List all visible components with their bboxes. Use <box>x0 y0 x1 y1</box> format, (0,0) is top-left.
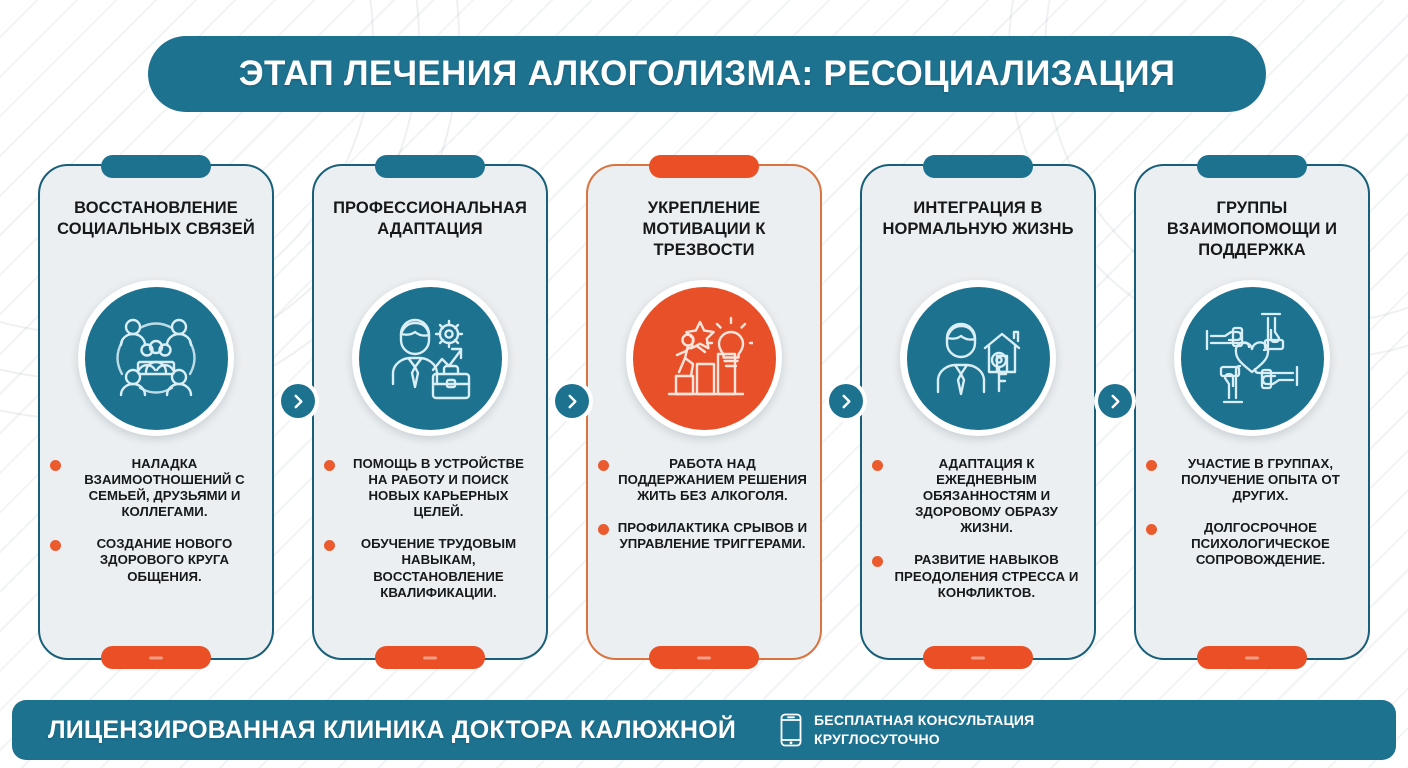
bullet-item: СОЗДАНИЕ НОВОГО ЗДОРОВОГО КРУГА ОБЩЕНИЯ. <box>50 536 260 584</box>
bullet-dot-icon <box>598 460 609 471</box>
card-bottom-tab <box>101 646 211 669</box>
footer-contact-lines: БЕСПЛАТНАЯ КОНСУЛЬТАЦИЯ КРУГЛОСУТОЧНО <box>814 712 1034 748</box>
card-title: ГРУППЫ ВЗАИМОПОМОЩИ И ПОДДЕРЖКА <box>1136 198 1368 264</box>
bullet-item: ОБУЧЕНИЕ ТРУДОВЫМ НАВЫКАМ, ВОССТАНОВЛЕНИ… <box>324 536 534 600</box>
bullet-item: РАБОТА НАД ПОДДЕРЖАНИЕМ РЕШЕНИЯ ЖИТЬ БЕЗ… <box>598 456 808 504</box>
card-bottom-tab <box>923 646 1033 669</box>
card-bottom-tab <box>375 646 485 669</box>
bullet-dot-icon <box>1146 460 1157 471</box>
bullet-dot-icon <box>50 540 61 551</box>
card-icon-wrap <box>78 280 234 436</box>
contact-line-1: БЕСПЛАТНАЯ КОНСУЛЬТАЦИЯ <box>814 712 1034 730</box>
connector-arrow-3 <box>829 384 863 418</box>
bullet-text: АДАПТАЦИЯ К ЕЖЕДНЕВНЫМ ОБЯЗАННОСТЯМ И ЗД… <box>891 456 1082 536</box>
connector-arrow-2 <box>555 384 589 418</box>
page-title: ЭТАП ЛЕЧЕНИЯ АЛКОГОЛИЗМА: РЕСОЦИАЛИЗАЦИЯ <box>239 54 1176 94</box>
climbing-steps-goal-icon <box>655 312 753 404</box>
stage-card-3[interactable]: УКРЕПЛЕНИЕ МОТИВАЦИИ К ТРЕЗВОСТИ <box>586 164 822 660</box>
card-title: ИНТЕГРАЦИЯ В НОРМАЛЬНУЮ ЖИЗНЬ <box>862 198 1094 264</box>
person-house-key-icon <box>929 312 1027 404</box>
bullet-dot-icon <box>872 556 883 567</box>
card-bullets: ПОМОЩЬ В УСТРОЙСТВЕ НА РАБОТУ И ПОИСК НО… <box>314 456 546 601</box>
bullet-text: НАЛАДКА ВЗАИМООТНОШЕНИЙ С СЕМЬЕЙ, ДРУЗЬЯ… <box>69 456 260 520</box>
bullet-dot-icon <box>50 460 61 471</box>
bullet-text: СОЗДАНИЕ НОВОГО ЗДОРОВОГО КРУГА ОБЩЕНИЯ. <box>69 536 260 584</box>
card-top-tab <box>649 155 759 178</box>
bullet-dot-icon <box>598 524 609 535</box>
bullet-text: ПОМОЩЬ В УСТРОЙСТВЕ НА РАБОТУ И ПОИСК НО… <box>343 456 534 520</box>
chevron-right-icon <box>839 394 854 409</box>
card-bottom-tab <box>1197 646 1307 669</box>
chevron-right-icon <box>1108 394 1123 409</box>
cards-row: ВОССТАНОВЛЕНИЕ СОЦИАЛЬНЫХ СВЯЗЕЙ <box>0 150 1408 670</box>
card-icon-circle <box>85 287 228 430</box>
bullet-item: НАЛАДКА ВЗАИМООТНОШЕНИЙ С СЕМЬЕЙ, ДРУЗЬЯ… <box>50 456 260 520</box>
card-top-tab <box>101 155 211 178</box>
chevron-right-icon <box>565 394 580 409</box>
card-title: ВОССТАНОВЛЕНИЕ СОЦИАЛЬНЫХ СВЯЗЕЙ <box>40 198 272 264</box>
card-bullets: РАБОТА НАД ПОДДЕРЖАНИЕМ РЕШЕНИЯ ЖИТЬ БЕЗ… <box>588 456 820 552</box>
card-bullets: НАЛАДКА ВЗАИМООТНОШЕНИЙ С СЕМЬЕЙ, ДРУЗЬЯ… <box>40 456 272 585</box>
footer-bar: ЛИЦЕНЗИРОВАННАЯ КЛИНИКА ДОКТОРА КАЛЮЖНОЙ… <box>12 700 1396 760</box>
card-bottom-tab <box>649 646 759 669</box>
card-icon-circle <box>1181 287 1324 430</box>
bullet-item: ДОЛГОСРОЧНОЕ ПСИХОЛОГИЧЕСКОЕ СОПРОВОЖДЕН… <box>1146 520 1356 568</box>
bullet-dot-icon <box>1146 524 1157 535</box>
card-top-tab <box>1197 155 1307 178</box>
card-icon-wrap <box>1174 280 1330 436</box>
card-title: УКРЕПЛЕНИЕ МОТИВАЦИИ К ТРЕЗВОСТИ <box>588 198 820 264</box>
bullet-dot-icon <box>324 460 335 471</box>
bullet-text: РАБОТА НАД ПОДДЕРЖАНИЕМ РЕШЕНИЯ ЖИТЬ БЕЗ… <box>617 456 808 504</box>
bullet-item: ПОМОЩЬ В УСТРОЙСТВЕ НА РАБОТУ И ПОИСК НО… <box>324 456 534 520</box>
bullet-item: РАЗВИТИЕ НАВЫКОВ ПРЕОДОЛЕНИЯ СТРЕССА И К… <box>872 552 1082 600</box>
card-icon-circle <box>907 287 1050 430</box>
bullet-text: УЧАСТИЕ В ГРУППАХ, ПОЛУЧЕНИЕ ОПЫТА ОТ ДР… <box>1165 456 1356 504</box>
connector-arrow-1 <box>281 384 315 418</box>
stage-card-1[interactable]: ВОССТАНОВЛЕНИЕ СОЦИАЛЬНЫХ СВЯЗЕЙ <box>38 164 274 660</box>
card-top-tab <box>923 155 1033 178</box>
card-title: ПРОФЕССИОНАЛЬНАЯ АДАПТАЦИЯ <box>314 198 546 264</box>
bullet-text: РАЗВИТИЕ НАВЫКОВ ПРЕОДОЛЕНИЯ СТРЕССА И К… <box>891 552 1082 600</box>
smartphone-icon <box>780 713 802 747</box>
hands-heart-support-icon <box>1205 312 1299 404</box>
businessman-career-icon <box>381 312 479 404</box>
footer-contact-block[interactable]: БЕСПЛАТНАЯ КОНСУЛЬТАЦИЯ КРУГЛОСУТОЧНО <box>780 712 1034 748</box>
bullet-dot-icon <box>872 460 883 471</box>
bullet-item: ПРОФИЛАКТИКА СРЫВОВ И УПРАВЛЕНИЕ ТРИГГЕР… <box>598 520 808 552</box>
bullet-item: АДАПТАЦИЯ К ЕЖЕДНЕВНЫМ ОБЯЗАННОСТЯМ И ЗД… <box>872 456 1082 536</box>
bullet-text: ОБУЧЕНИЕ ТРУДОВЫМ НАВЫКАМ, ВОССТАНОВЛЕНИ… <box>343 536 534 600</box>
clinic-name: ЛИЦЕНЗИРОВАННАЯ КЛИНИКА ДОКТОРА КАЛЮЖНОЙ <box>48 716 736 745</box>
bullet-item: УЧАСТИЕ В ГРУППАХ, ПОЛУЧЕНИЕ ОПЫТА ОТ ДР… <box>1146 456 1356 504</box>
bullet-text: ПРОФИЛАКТИКА СРЫВОВ И УПРАВЛЕНИЕ ТРИГГЕР… <box>617 520 808 552</box>
card-icon-circle <box>359 287 502 430</box>
stage-card-5[interactable]: ГРУППЫ ВЗАИМОПОМОЩИ И ПОДДЕРЖКА <box>1134 164 1370 660</box>
stage-card-4[interactable]: ИНТЕГРАЦИЯ В НОРМАЛЬНУЮ ЖИЗНЬ <box>860 164 1096 660</box>
connector-arrow-4 <box>1098 384 1132 418</box>
stage-card-2[interactable]: ПРОФЕССИОНАЛЬНАЯ АДАПТАЦИЯ <box>312 164 548 660</box>
card-icon-circle <box>633 287 776 430</box>
card-bullets: АДАПТАЦИЯ К ЕЖЕДНЕВНЫМ ОБЯЗАННОСТЯМ И ЗД… <box>862 456 1094 601</box>
card-bullets: УЧАСТИЕ В ГРУППАХ, ПОЛУЧЕНИЕ ОПЫТА ОТ ДР… <box>1136 456 1368 569</box>
bullet-text: ДОЛГОСРОЧНОЕ ПСИХОЛОГИЧЕСКОЕ СОПРОВОЖДЕН… <box>1165 520 1356 568</box>
page-title-bar: ЭТАП ЛЕЧЕНИЯ АЛКОГОЛИЗМА: РЕСОЦИАЛИЗАЦИЯ <box>148 36 1266 112</box>
card-icon-wrap <box>626 280 782 436</box>
contact-line-2: КРУГЛОСУТОЧНО <box>814 731 1034 749</box>
chevron-right-icon <box>291 394 306 409</box>
bullet-dot-icon <box>324 540 335 551</box>
card-icon-wrap <box>900 280 1056 436</box>
card-top-tab <box>375 155 485 178</box>
people-network-icon <box>108 314 204 402</box>
card-icon-wrap <box>352 280 508 436</box>
